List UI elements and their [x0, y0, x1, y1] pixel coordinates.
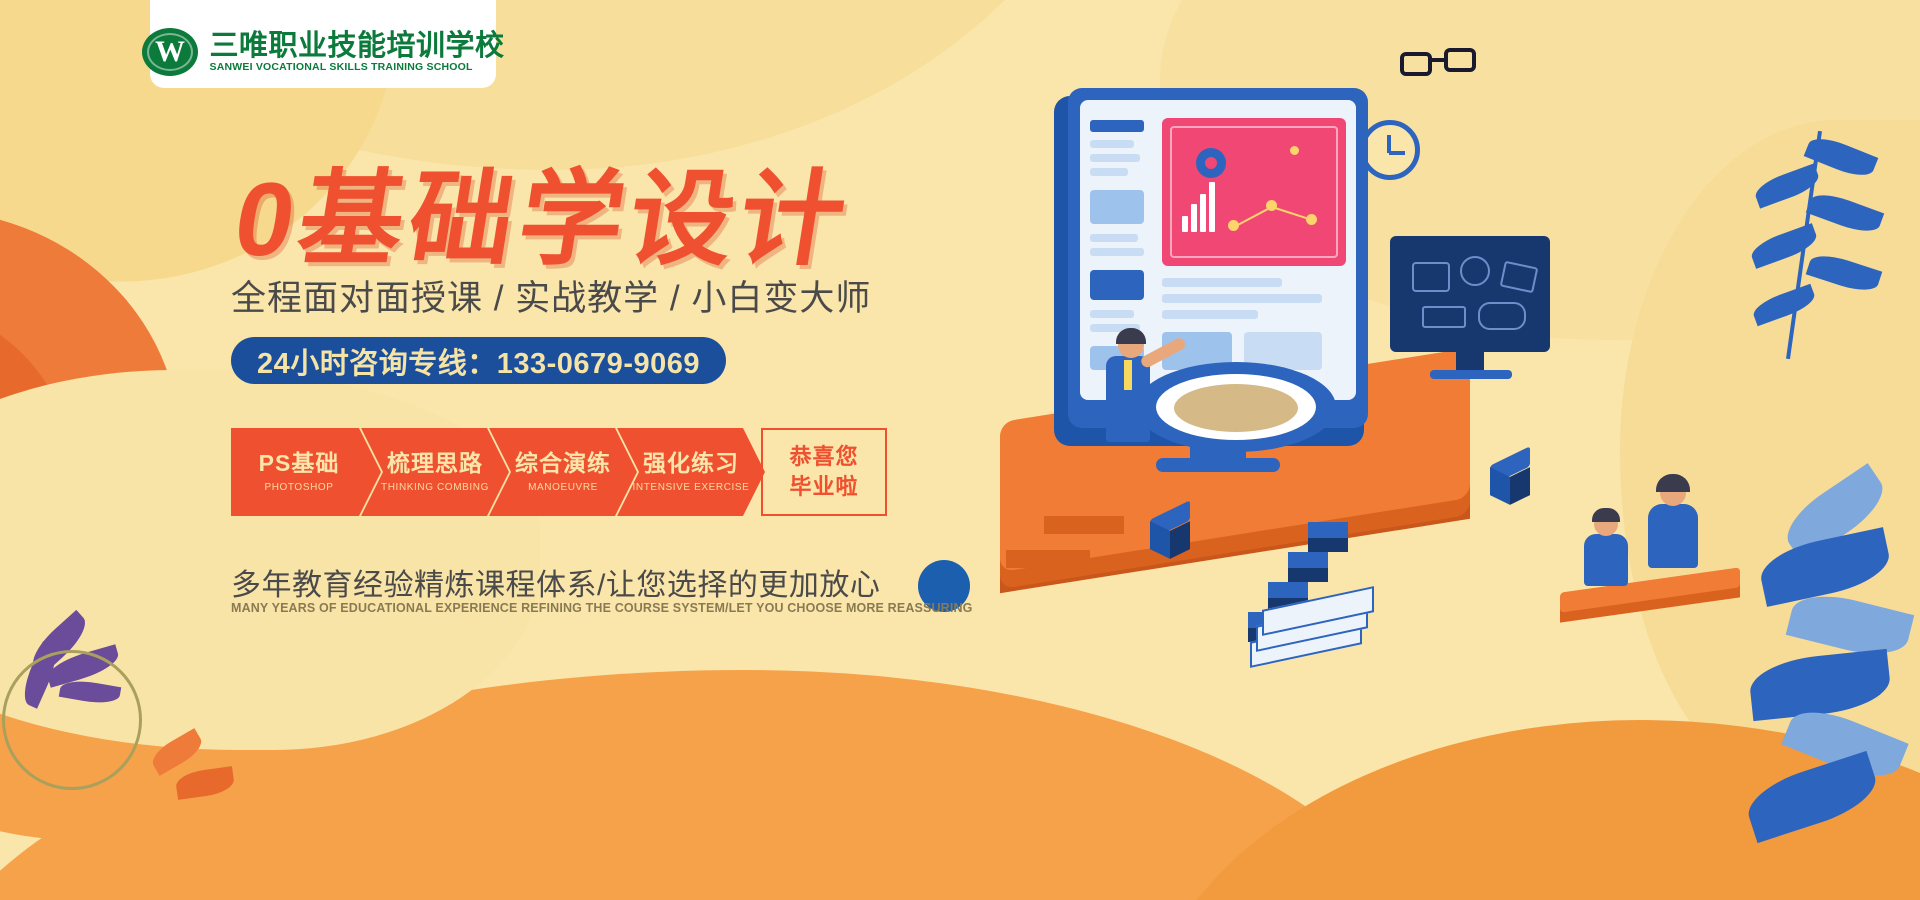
- course-steps: PS基础 PHOTOSHOP 梳理思路 THINKING COMBING 综合演…: [231, 428, 887, 516]
- step-label-cn: 综合演练: [515, 451, 611, 476]
- logo-card[interactable]: W 三唯职业技能培训学校 SANWEI VOCATIONAL SKILLS TR…: [150, 0, 496, 88]
- whiteboard-doodle: [1412, 262, 1450, 292]
- w-monogram-icon: W: [142, 28, 198, 76]
- screen-node: [1228, 220, 1239, 231]
- screen-bar: [1090, 120, 1144, 132]
- screen-bar: [1090, 168, 1128, 176]
- footer-tagline-cn: 多年教育经验精炼课程体系/让您选择的更加放心: [231, 560, 880, 604]
- whiteboard-base: [1430, 370, 1512, 379]
- screen-bar: [1090, 310, 1134, 318]
- clock-icon: [1360, 120, 1420, 180]
- step-label-en: INTENSIVE EXERCISE: [633, 482, 750, 493]
- footer-tagline-en: MANY YEARS OF EDUCATIONAL EXPERIENCE REF…: [231, 601, 973, 615]
- screen-bar: [1090, 234, 1138, 242]
- step-label-cn: PS基础: [259, 451, 340, 476]
- whiteboard-doodle: [1422, 306, 1466, 328]
- decor-cube: [1146, 510, 1194, 562]
- screen-bar: [1090, 154, 1140, 162]
- stage-ellipse-core: [1174, 384, 1298, 432]
- brand-name-en: SANWEI VOCATIONAL SKILLS TRAINING SCHOOL: [210, 62, 505, 74]
- screen-bar: [1162, 294, 1322, 303]
- step-item[interactable]: PS基础 PHOTOSHOP: [231, 428, 381, 516]
- step-item[interactable]: 强化练习 INTENSIVE EXERCISE: [617, 428, 765, 516]
- monitor-stand-base: [1156, 458, 1280, 472]
- student-body: [1648, 504, 1698, 568]
- presenter-tie: [1124, 360, 1132, 390]
- screen-bar-chart: [1182, 180, 1222, 232]
- student-hair: [1592, 508, 1620, 522]
- screen-block: [1090, 270, 1144, 300]
- banner-canvas: W 三唯职业技能培训学校 SANWEI VOCATIONAL SKILLS TR…: [0, 0, 1920, 900]
- hero-headline: 0基础学设计: [228, 168, 858, 272]
- step-label-cn: 梳理思路: [387, 451, 483, 476]
- step-item[interactable]: 梳理思路 THINKING COMBING: [361, 428, 509, 516]
- screen-bar: [1090, 140, 1134, 148]
- brand-name-cn: 三唯职业技能培训学校: [210, 31, 505, 61]
- screen-node: [1290, 146, 1299, 155]
- orange-step: [1044, 496, 1124, 516]
- screen-node: [1266, 200, 1277, 211]
- step-label-cn: 强化练习: [643, 451, 739, 476]
- card-stack: [1250, 596, 1380, 676]
- screen-node-dot: [1205, 157, 1217, 169]
- screen-block: [1090, 190, 1144, 224]
- logo-letter: W: [155, 37, 184, 67]
- screen-bar: [1162, 278, 1282, 287]
- screen-bar: [1162, 310, 1258, 319]
- screen-bar: [1090, 248, 1144, 256]
- hero-illustration: [960, 40, 1920, 900]
- screen-node: [1306, 214, 1317, 225]
- step-label-en: MANOEUVRE: [528, 482, 598, 493]
- hero-subtitle: 全程面对面授课 / 实战教学 / 小白变大师: [231, 278, 871, 320]
- phone-cta-pill[interactable]: 24小时咨询专线：133-0679-9069: [231, 337, 726, 384]
- glasses-icon: [1400, 48, 1480, 78]
- whiteboard-screen: [1390, 236, 1550, 352]
- step-label-en: PHOTOSHOP: [264, 482, 333, 493]
- student-hair: [1656, 474, 1690, 492]
- student-body: [1584, 534, 1628, 586]
- step-item[interactable]: 综合演练 MANOEUVRE: [489, 428, 637, 516]
- whiteboard-doodle: [1460, 256, 1490, 286]
- graduation-line-1: 恭喜您: [789, 442, 858, 472]
- graduation-badge[interactable]: 恭喜您 毕业啦: [761, 428, 887, 516]
- whiteboard-leg: [1456, 352, 1484, 372]
- step-label-en: THINKING COMBING: [381, 482, 489, 493]
- decor-cube: [1486, 456, 1534, 508]
- whiteboard-doodle: [1478, 302, 1526, 330]
- graduation-line-2: 毕业啦: [789, 472, 858, 502]
- phone-cta-text: 24小时咨询专线：133-0679-9069: [257, 340, 700, 382]
- left-foliage: [0, 620, 330, 900]
